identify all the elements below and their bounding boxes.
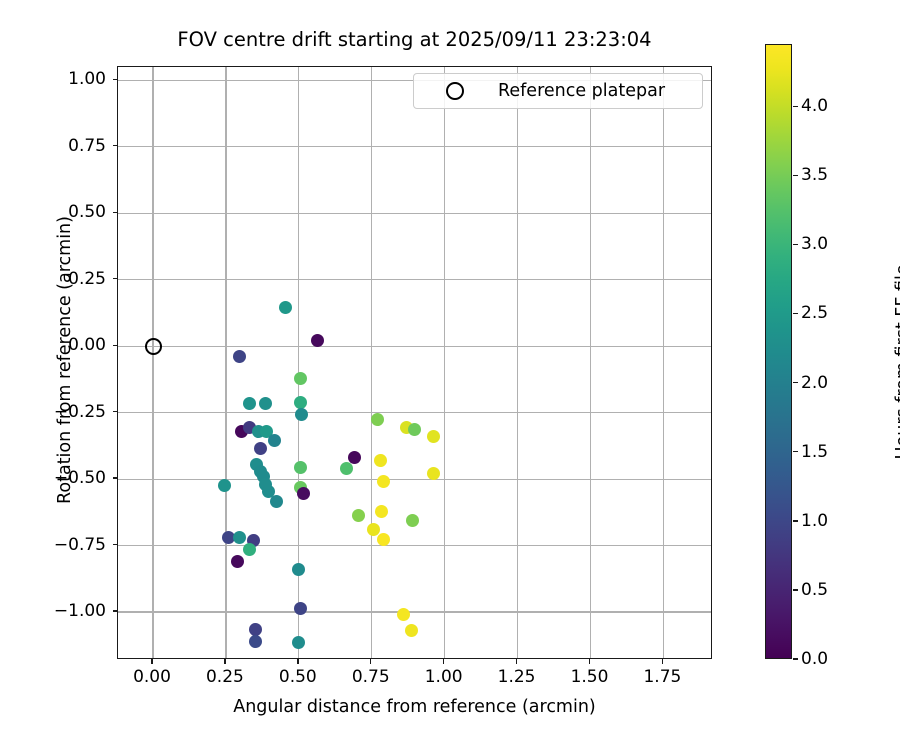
scatter-point [427,467,440,480]
colorbar-tick-label: 2.5 [801,303,828,323]
grid-line-vertical [590,67,591,658]
x-tick-mark [589,659,590,664]
grid-line-vertical [225,67,226,658]
colorbar-tick-label: 4.0 [801,96,828,116]
scatter-point [405,624,418,637]
scatter-point [377,533,390,546]
colorbar-tick-mark [793,175,798,176]
scatter-point [249,623,262,636]
grid-line-vertical [152,67,153,658]
scatter-point [254,442,267,455]
plot-area[interactable] [117,66,712,659]
colorbar-tick-label: 0.0 [801,649,828,669]
colorbar-tick-label: 1.0 [801,511,828,531]
x-tick-mark [443,659,444,664]
legend-box[interactable]: Reference platepar [413,73,703,109]
x-tick-label: 1.00 [425,667,463,687]
scatter-point [340,462,353,475]
y-tick-mark [113,79,118,80]
grid-line-horizontal [118,213,711,214]
grid-line-vertical [444,67,445,658]
grid-line-horizontal [118,479,711,480]
x-tick-mark [151,659,152,664]
scatter-point [408,423,421,436]
scatter-point [294,602,307,615]
scatter-point [218,479,231,492]
scatter-point [297,487,310,500]
x-tick-mark [370,659,371,664]
grid-line-vertical [517,67,518,658]
figure-canvas: FOV centre drift starting at 2025/09/11 … [0,0,900,750]
scatter-point [259,397,272,410]
colorbar-label: Hours from first FF file [893,62,900,662]
scatter-point [292,636,305,649]
colorbar-tick-mark [793,658,798,659]
x-tick-mark [516,659,517,664]
chart-title: FOV centre drift starting at 2025/09/11 … [117,28,712,51]
y-tick-mark [113,411,118,412]
legend-label: Reference platepar [498,81,665,101]
scatter-point [249,635,262,648]
scatter-point [397,608,410,621]
scatter-point [375,505,388,518]
scatter-point [292,563,305,576]
y-tick-mark [113,278,118,279]
x-axis-label: Angular distance from reference (arcmin) [117,697,712,717]
y-axis-label: Rotation from reference (arcmin) [55,60,75,660]
colorbar-tick-label: 0.5 [801,580,828,600]
scatter-point [294,372,307,385]
scatter-point [231,555,244,568]
y-tick-mark [113,477,118,478]
grid-line-horizontal [118,611,711,612]
x-tick-label: 0.25 [206,667,244,687]
grid-line-horizontal [118,412,711,413]
colorbar-tick-mark [793,451,798,452]
scatter-point [294,396,307,409]
scatter-point [352,509,365,522]
colorbar-tick-mark [793,520,798,521]
scatter-point [406,514,419,527]
reference-platepar-circle-icon [145,338,162,355]
y-tick-mark [113,610,118,611]
y-tick-mark [113,345,118,346]
x-tick-label: 0.75 [352,667,390,687]
scatter-point [377,475,390,488]
x-tick-label: 1.75 [643,667,681,687]
scatter-point [427,430,440,443]
x-tick-label: 0.50 [279,667,317,687]
scatter-point [233,350,246,363]
scatter-point [233,531,246,544]
grid-line-horizontal [118,146,711,147]
scatter-point [279,301,292,314]
y-tick-mark [113,145,118,146]
colorbar-tick-mark [793,106,798,107]
grid-line-vertical [663,67,664,658]
y-tick-mark [113,212,118,213]
colorbar-tick-label: 1.5 [801,442,828,462]
colorbar-tick-mark [793,313,798,314]
scatter-point [294,461,307,474]
colorbar-tick-mark [793,589,798,590]
grid-line-horizontal [118,545,711,546]
scatter-point [270,495,283,508]
x-tick-label: 0.00 [133,667,171,687]
x-tick-mark [224,659,225,664]
scatter-point [295,408,308,421]
scatter-point [243,397,256,410]
x-tick-label: 1.50 [571,667,609,687]
x-tick-mark [662,659,663,664]
legend-circle-icon [446,82,464,100]
grid-line-horizontal [118,346,711,347]
scatter-point [374,454,387,467]
scatter-point [243,543,256,556]
colorbar-tick-mark [793,244,798,245]
colorbar-tick-mark [793,382,798,383]
colorbar-tick-label: 3.5 [801,165,828,185]
x-tick-mark [297,659,298,664]
grid-line-horizontal [118,279,711,280]
y-tick-mark [113,544,118,545]
colorbar-tick-label: 2.0 [801,373,828,393]
scatter-point [268,434,281,447]
colorbar [765,44,792,659]
colorbar-tick-label: 3.0 [801,234,828,254]
scatter-point [371,413,384,426]
grid-line-vertical [371,67,372,658]
x-tick-label: 1.25 [498,667,536,687]
